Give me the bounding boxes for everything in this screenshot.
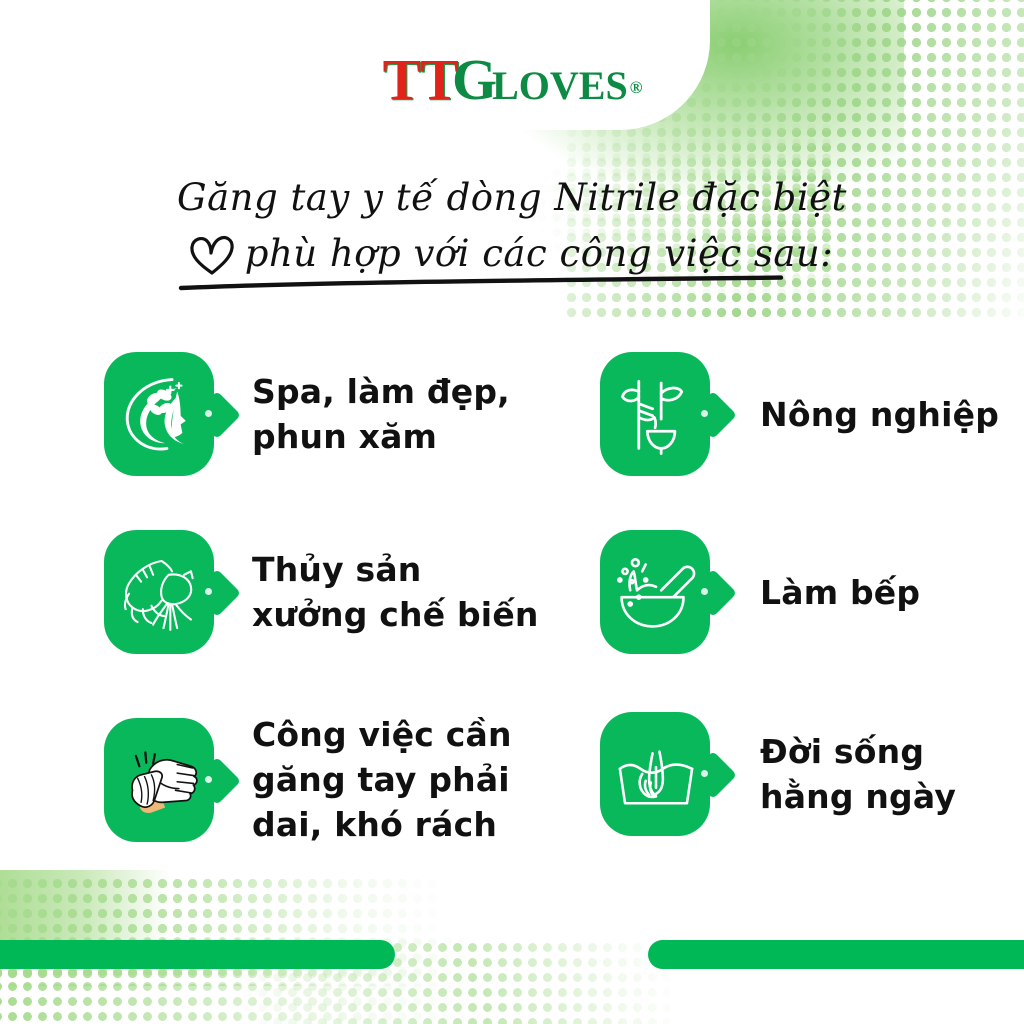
tile-notch-dot <box>701 770 708 777</box>
label-line: găng tay phải <box>252 757 512 802</box>
bottom-middle-halftone-pattern <box>240 940 670 1024</box>
label-line: Đời sống <box>760 729 956 774</box>
bottom-right-green-bar <box>648 940 1024 969</box>
logo-text-tt: TT <box>383 47 458 112</box>
registered-trademark-icon: ® <box>630 78 642 97</box>
feature-grid: Spa, làm đẹp, phun xăm <box>0 352 1024 872</box>
feature-item-seafood[interactable]: Thủy sản xưởng chế biến <box>104 530 604 654</box>
label-line: Công việc cần <box>252 712 512 757</box>
label-line: hằng ngày <box>760 774 956 819</box>
agriculture-plant-icon <box>613 370 699 458</box>
tile-notch-dot <box>701 588 708 595</box>
logo-text-loves: LOVES <box>492 63 628 108</box>
bottom-left-green-bar <box>0 940 395 969</box>
headline-line-1: Găng tay y tế dòng Nitrile đặc biệt <box>0 172 1024 224</box>
feature-tile-agriculture <box>600 352 726 476</box>
label-line: Nông nghiệp <box>760 392 999 437</box>
brand-logo: TTGLOVES® <box>0 46 1024 113</box>
feature-label-daily-life: Đời sống hằng ngày <box>760 729 956 819</box>
feature-item-daily-life[interactable]: Đời sống hằng ngày <box>600 712 1024 836</box>
feature-item-durable-gloves[interactable]: Công việc cần găng tay phải dai, khó rác… <box>104 712 604 847</box>
headline-line-2: phù hợp với các công việc sau: <box>191 228 833 280</box>
label-line: Thủy sản <box>252 547 539 592</box>
headline-block: Găng tay y tế dòng Nitrile đặc biệt phù … <box>0 172 1024 280</box>
feature-label-seafood: Thủy sản xưởng chế biến <box>252 547 539 637</box>
tile-notch-dot <box>205 588 212 595</box>
feature-label-spa: Spa, làm đẹp, phun xăm <box>252 369 510 459</box>
tile-notch-dot <box>701 410 708 417</box>
label-line: dai, khó rách <box>252 802 512 847</box>
logo-text-g: G <box>452 47 496 112</box>
feature-item-cooking[interactable]: Làm bếp <box>600 530 1024 654</box>
feature-tile-durable-gloves <box>104 718 230 842</box>
feature-label-agriculture: Nông nghiệp <box>760 392 999 437</box>
label-line: Spa, làm đẹp, <box>252 369 510 414</box>
feature-tile-seafood <box>104 530 230 654</box>
seafood-shrimp-squid-icon <box>117 548 203 636</box>
hand-wash-basin-icon <box>613 730 699 818</box>
headline-underline <box>177 274 787 292</box>
cooking-wok-pan-icon <box>613 548 699 636</box>
bottom-left-green-wash <box>0 870 170 940</box>
bottom-left-halftone-pattern-lower <box>0 934 550 1024</box>
feature-tile-daily-life <box>600 712 726 836</box>
feature-label-cooking: Làm bếp <box>760 570 920 615</box>
bottom-left-halftone-pattern <box>0 876 490 986</box>
spa-face-flower-icon <box>117 370 203 458</box>
headline-line-2-wrap: phù hợp với các công việc sau: <box>191 228 833 280</box>
glove-on-hand-icon <box>117 736 203 824</box>
label-line: xưởng chế biến <box>252 592 539 637</box>
feature-item-agriculture[interactable]: Nông nghiệp <box>600 352 1024 476</box>
feature-tile-cooking <box>600 530 726 654</box>
tile-notch-dot <box>205 776 212 783</box>
label-line: phun xăm <box>252 414 510 459</box>
feature-tile-spa <box>104 352 230 476</box>
feature-item-spa[interactable]: Spa, làm đẹp, phun xăm <box>104 352 584 476</box>
label-line: Làm bếp <box>760 570 920 615</box>
infographic-page: TTGLOVES® Găng tay y tế dòng Nitrile đặc… <box>0 0 1024 1024</box>
tile-notch-dot <box>205 410 212 417</box>
feature-label-durable-gloves: Công việc cần găng tay phải dai, khó rác… <box>252 712 512 847</box>
